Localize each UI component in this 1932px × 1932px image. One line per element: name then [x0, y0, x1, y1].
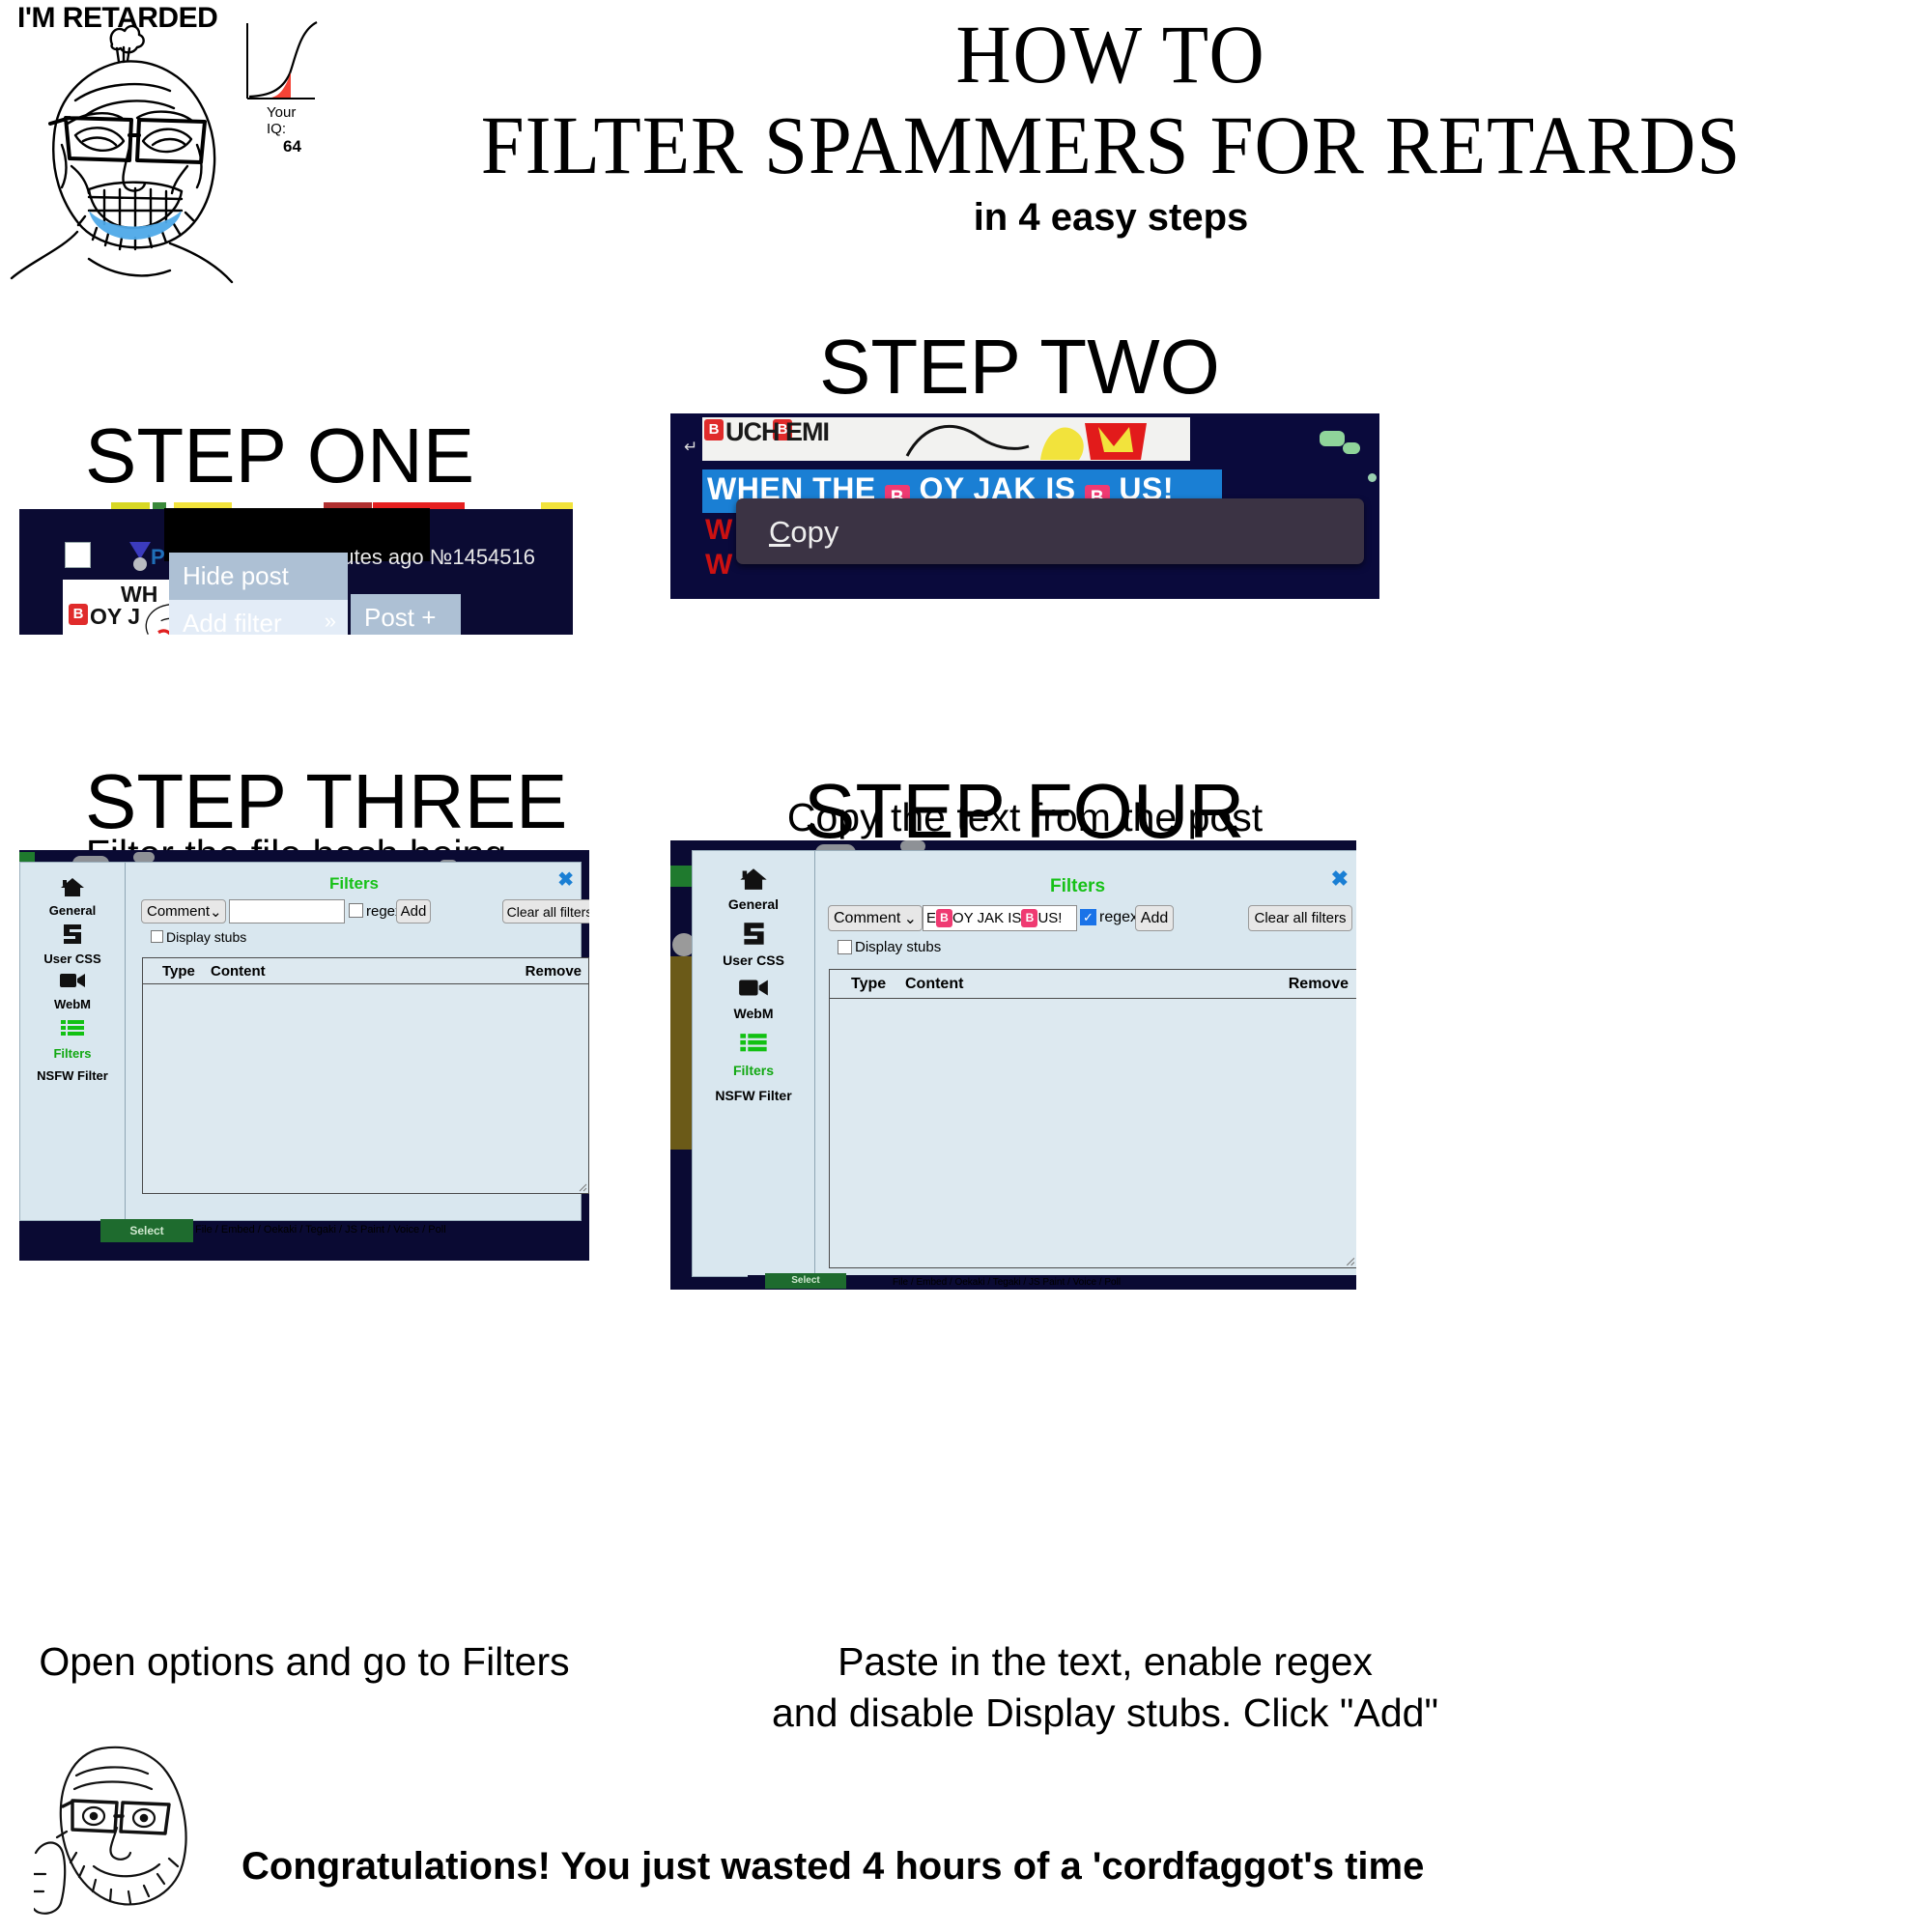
video-camera-icon — [738, 977, 769, 999]
sidebar-item-nsfw-filter[interactable]: NSFW Filter — [20, 1068, 125, 1083]
header: I'M RETARDED Your IQ: 64 — [0, 0, 1932, 290]
clear-all-filters-button[interactable]: Clear all filters — [502, 899, 589, 923]
close-icon[interactable]: ✖ — [1331, 867, 1349, 892]
sidebar-item-user-css[interactable]: User CSS — [20, 923, 125, 966]
b-badge-icon: B — [936, 909, 952, 927]
options-sidebar[interactable]: General User CSS WebM Filters NSFW Filte… — [20, 863, 126, 1220]
title-subtitle: in 4 easy steps — [290, 195, 1932, 240]
regex-label: regex — [1099, 909, 1138, 926]
filter-value-input[interactable] — [229, 899, 345, 923]
filter-type-value: Comment — [147, 903, 210, 920]
copy-label-rest: opy — [790, 515, 838, 549]
title-line-2: FILTER SPAMMERS FOR RETARDS — [339, 99, 1883, 191]
sidebar-label: General — [693, 896, 814, 912]
options-panel-title: Filters — [329, 874, 379, 894]
sidebar-label: General — [20, 903, 125, 918]
filter-type-value: Comment — [834, 910, 900, 927]
regex-checkbox[interactable]: ✓ — [1080, 909, 1096, 925]
table-header-remove: Remove — [1289, 976, 1349, 993]
css-icon — [61, 923, 84, 946]
sidebar-label: WebM — [20, 997, 125, 1011]
filter-type-select[interactable]: Comment ⌄ — [828, 905, 923, 931]
b-badge-icon: B — [69, 604, 88, 625]
resize-handle-icon[interactable] — [1343, 1254, 1355, 1266]
options-window[interactable]: General User CSS WebM Filters NSFW Filte… — [19, 862, 582, 1221]
step-four-caption-line-1: Paste in the text, enable regex — [670, 1636, 1540, 1688]
add-filter-submenu[interactable]: Post + Filename File Hash — [351, 594, 461, 635]
chevron-down-icon: ⌄ — [904, 909, 917, 928]
post-body-line-1: W — [705, 514, 732, 547]
step-one-heading: STEP ONE — [85, 417, 474, 495]
home-icon — [739, 867, 768, 891]
resize-handle-icon[interactable] — [576, 1180, 587, 1192]
sidebar-label: User CSS — [20, 952, 125, 966]
select-file-button[interactable]: Select — [100, 1219, 193, 1242]
submenu-label: Post + — [364, 603, 436, 632]
sidebar-item-user-css[interactable]: User CSS — [693, 921, 814, 968]
sidebar-item-webm[interactable]: WebM — [20, 971, 125, 1011]
table-header-type: Type — [162, 963, 195, 980]
copy-menu-item[interactable]: Copy — [769, 515, 838, 550]
decor-green-blob-1 — [1320, 431, 1345, 446]
display-stubs-checkbox[interactable] — [838, 940, 852, 954]
step-three-caption: Open options and go to Filters — [19, 1636, 589, 1688]
select-file-button[interactable]: Select — [765, 1273, 846, 1289]
sidebar-item-nsfw-filter[interactable]: NSFW Filter — [693, 1088, 814, 1103]
decor-green-dot — [1368, 473, 1377, 482]
sidebar-item-general[interactable]: General — [20, 876, 125, 918]
post-context-menu[interactable]: Hide post Add filter » Archive post » — [169, 553, 348, 635]
thumbs-up-soyjak-illustration — [34, 1739, 232, 1918]
title-line-1: HOW TO — [355, 10, 1866, 99]
sidebar-label: WebM — [693, 1006, 814, 1021]
filter-value-pre: E — [926, 910, 936, 926]
filter-type-select[interactable]: Comment ⌄ — [141, 899, 226, 923]
clear-button-label: Clear all filters — [1254, 910, 1346, 926]
post-timestamp-id: nutes ago №1454516 — [330, 545, 535, 570]
add-filter-button[interactable]: Add — [396, 899, 431, 923]
medal-icon — [128, 541, 153, 572]
board-links[interactable]: File / Embed / Oekaki / Tegaki / JS Pain… — [195, 1224, 446, 1236]
display-stubs-checkbox[interactable] — [151, 930, 163, 943]
board-links[interactable]: File / Embed / Oekaki / Tegaki / JS Pain… — [893, 1277, 1121, 1288]
reply-arrow-icon: ↵ — [684, 438, 697, 457]
chevron-down-icon: ⌄ — [210, 903, 222, 921]
sidebar-item-general[interactable]: General — [693, 867, 814, 912]
sidebar-label: NSFW Filter — [20, 1068, 125, 1083]
clear-all-filters-button[interactable]: Clear all filters — [1248, 905, 1352, 931]
options-window[interactable]: General User CSS WebM Filters NSFW Filte… — [692, 850, 1356, 1277]
context-menu-item-hide-post[interactable]: Hide post — [169, 553, 348, 600]
context-menu-item-add-filter[interactable]: Add filter » — [169, 600, 348, 635]
list-lines-icon — [60, 1019, 85, 1040]
post-image-banner: B B UCH EMI — [702, 417, 1190, 461]
step-four-caption-line-2: and disable Display stubs. Click "Add" — [670, 1688, 1540, 1739]
submenu-item-post-plus[interactable]: Post + — [351, 594, 461, 635]
add-filter-button[interactable]: Add — [1135, 905, 1174, 931]
filter-value-mid: OY JAK IS — [952, 910, 1021, 926]
step-three-screenshot: General User CSS WebM Filters NSFW Filte… — [19, 850, 589, 1261]
post-author: P — [151, 545, 165, 570]
sidebar-item-webm[interactable]: WebM — [693, 977, 814, 1021]
regex-checkbox[interactable] — [349, 903, 363, 918]
table-header-remove: Remove — [526, 963, 582, 980]
post-body-line-2: W — [705, 549, 732, 582]
sidebar-label: User CSS — [693, 952, 814, 968]
b-badge-icon: B — [704, 419, 724, 440]
add-button-label: Add — [401, 903, 427, 920]
page-title: HOW TO FILTER SPAMMERS FOR RETARDS in 4 … — [290, 10, 1932, 240]
display-stubs-label: Display stubs — [166, 929, 246, 945]
chevron-right-icon: » — [325, 609, 336, 634]
decor-green-blob-2 — [1343, 442, 1360, 454]
filters-table[interactable]: Type Content Remove — [829, 969, 1356, 1268]
display-stubs-label: Display stubs — [855, 939, 941, 955]
filter-value-post: US! — [1037, 910, 1062, 926]
banner-text: UCH EMI — [725, 417, 829, 447]
sidebar-item-filters[interactable]: Filters — [693, 1033, 814, 1078]
iq-soyjak-illustration: I'M RETARDED Your IQ: 64 — [8, 0, 298, 290]
sidebar-label: NSFW Filter — [693, 1088, 814, 1103]
step-three-heading: STEP THREE — [85, 763, 567, 840]
close-icon[interactable]: ✖ — [557, 867, 574, 892]
step-three-caption-line-1: Open options and go to Filters — [19, 1636, 589, 1688]
step-one-screenshot: P nutes ago №1454516 WH B OY J Hide post… — [19, 502, 573, 635]
table-header-content: Content — [905, 976, 963, 993]
copy-context-menu[interactable]: Copy — [736, 498, 1364, 564]
b-badge-icon: B — [1021, 909, 1037, 927]
table-header-content: Content — [211, 963, 266, 980]
table-header-type: Type — [851, 976, 886, 993]
final-caption: Congratulations! You just wasted 4 hours… — [241, 1845, 1424, 1889]
home-icon — [60, 876, 85, 897]
step-four-caption: Paste in the text, enable regex and disa… — [670, 1636, 1540, 1739]
filters-table[interactable]: Type Content Remove — [142, 957, 589, 1194]
options-panel-title: Filters — [1050, 876, 1105, 897]
step-four-heading: STEP FOUR — [804, 773, 1244, 850]
context-menu-label: Add filter — [183, 609, 282, 635]
filter-value-input[interactable]: E B OY JAK IS B US! — [923, 905, 1077, 931]
step-two-screenshot: B B UCH EMI ↵ WHEN THE B OY JAK IS B US!… — [670, 413, 1379, 599]
clear-button-label: Clear all filters — [507, 904, 589, 920]
options-sidebar[interactable]: General User CSS WebM Filters NSFW Filte… — [693, 851, 815, 1276]
sidebar-item-filters[interactable]: Filters — [20, 1019, 125, 1061]
video-camera-icon — [59, 971, 86, 990]
add-button-label: Add — [1141, 910, 1168, 927]
copy-accelerator: C — [769, 515, 790, 549]
sidebar-label: Filters — [693, 1063, 814, 1078]
post-checkbox[interactable] — [65, 542, 91, 568]
sidebar-label: Filters — [20, 1046, 125, 1061]
step-two-heading: STEP TWO — [819, 328, 1220, 406]
css-icon — [741, 921, 767, 947]
list-lines-icon — [739, 1033, 768, 1057]
step-four-screenshot: General User CSS WebM Filters NSFW Filte… — [670, 840, 1356, 1290]
context-menu-label: Hide post — [183, 561, 289, 590]
